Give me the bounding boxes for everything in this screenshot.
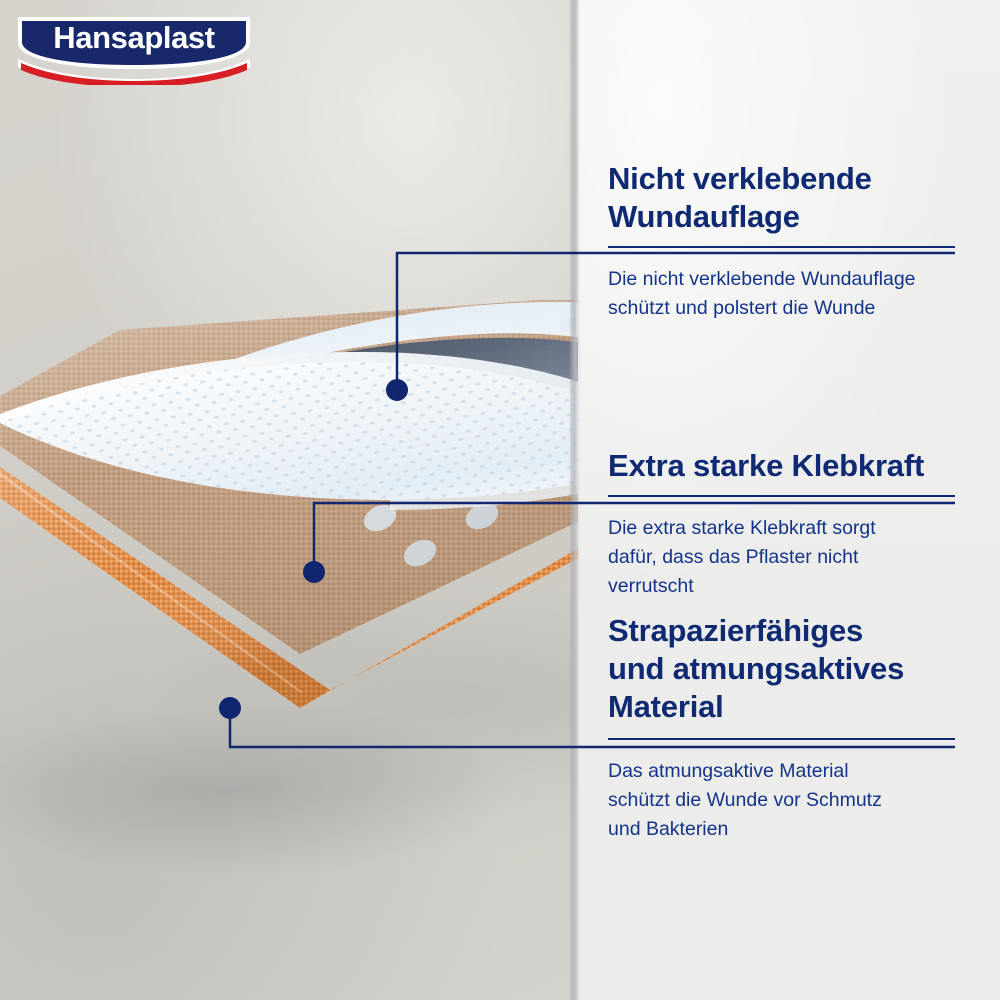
background-panel-left — [0, 0, 573, 1000]
brand-logo[interactable]: Hansaplast — [14, 13, 254, 85]
callout-body-adhesion: Die extra starke Klebkraft sorgt dafür, … — [608, 514, 955, 601]
callout-material: Strapazierfähiges und atmungsaktives Mat… — [608, 612, 955, 844]
callout-adhesion: Extra starke Klebkraft Die extra starke … — [608, 447, 955, 601]
callout-rule-adhesion — [608, 495, 955, 497]
callout-body-wound-pad: Die nicht verklebende Wundauflage schütz… — [608, 265, 955, 323]
callout-rule-material — [608, 738, 955, 740]
callout-body-material: Das atmungsaktive Material schützt die W… — [608, 757, 955, 844]
callout-heading-wound-pad: Nicht verklebende Wundauflage — [608, 160, 955, 236]
callout-heading-material: Strapazierfähiges und atmungsaktives Mat… — [608, 612, 955, 726]
infographic-canvas: Hansaplast Nicht verklebende Wundauflage… — [0, 0, 1000, 1000]
logo-wordmark: Hansaplast — [14, 13, 254, 65]
panel-divider-seam — [569, 0, 581, 1000]
callout-wound-pad: Nicht verklebende Wundauflage Die nicht … — [608, 160, 955, 323]
callout-heading-adhesion: Extra starke Klebkraft — [608, 447, 955, 485]
callout-rule-wound-pad — [608, 246, 955, 248]
